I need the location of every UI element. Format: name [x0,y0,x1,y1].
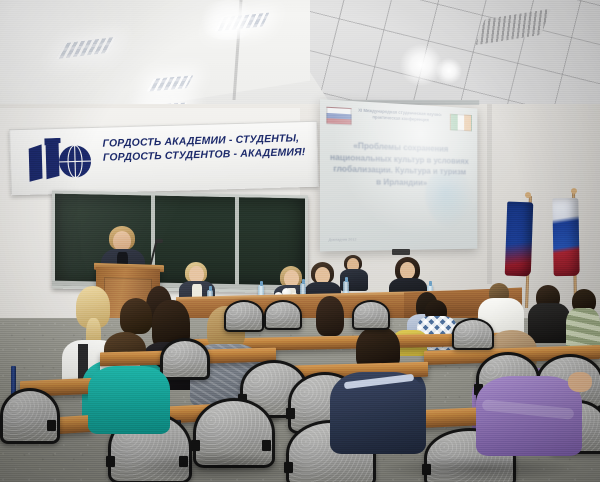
conference-hall-photo: ГОРДОСТЬ АКАДЕМИИ - СТУДЕНТЫ, ГОРДОСТЬ С… [0,0,600,482]
microphone-head-icon [155,239,163,243]
chair[interactable] [352,300,386,326]
chair[interactable] [0,388,54,438]
chalkboard [52,191,308,294]
flag-blue-red [505,202,534,277]
banner-text: ГОРДОСТЬ АКАДЕМИИ - СТУДЕНТЫ, ГОРДОСТЬ С… [102,132,311,167]
chair[interactable] [160,338,204,374]
ceiling-light-wash [0,0,140,120]
floor-shadow [380,456,580,482]
lens-flare [436,58,462,84]
lens-flare [196,0,260,40]
flag-russia-tricolor [552,198,579,276]
screen-bottom-weight [392,249,410,255]
floor-shadow [130,452,310,482]
flagpole-finial [571,188,577,194]
speaker-head [113,231,131,251]
lens-flare [400,44,442,86]
wall-column-edge [487,104,492,284]
chair[interactable] [264,300,298,326]
wall-banner: ГОРДОСТЬ АКАДЕМИИ - СТУДЕНТЫ, ГОРДОСТЬ С… [9,121,319,196]
projector-screen: XI Международная студенческая научно-пра… [320,99,477,251]
institute-logo-icon [24,137,97,185]
chair[interactable] [224,300,260,328]
flagpole-finial [525,192,531,198]
chair[interactable] [452,318,490,346]
